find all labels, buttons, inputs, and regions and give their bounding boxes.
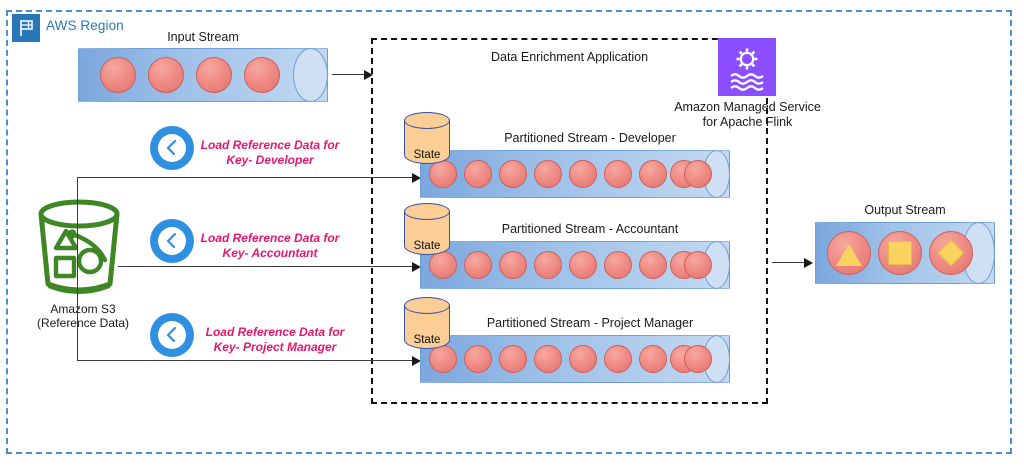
load-reference-label-developer: Load Reference Data for Key- Developer — [190, 138, 350, 168]
input-to-app-arrowhead — [364, 70, 373, 80]
stream-token — [429, 345, 457, 373]
stream-token — [569, 160, 597, 188]
amazon-s3-bucket-icon — [28, 198, 130, 307]
amazon-s3-caption: Amazom S3 (Reference Data) — [8, 302, 158, 330]
flink-caption-line2: for Apache Flink — [650, 115, 845, 130]
chevron-left-glyph — [150, 219, 194, 263]
s3-to-accountant-connector — [118, 266, 416, 267]
load-reference-label-accountant: Load Reference Data for Key- Accountant — [190, 231, 350, 261]
amazon-s3-caption-line1: Amazom S3 — [8, 302, 158, 316]
app-to-output-arrowhead — [804, 258, 813, 268]
load-reference-badge-project-manager[interactable] — [150, 313, 194, 357]
stream-token — [684, 345, 712, 373]
input-stream-label: Input Stream — [78, 30, 328, 44]
input-stream-cap — [293, 48, 328, 102]
triangle-shape-icon — [836, 244, 862, 266]
stream-token — [429, 251, 457, 279]
s3-connector-spine — [77, 177, 78, 361]
state-label: State — [404, 240, 450, 252]
stream-token — [684, 160, 712, 188]
app-to-output-connector — [772, 262, 808, 263]
flink-caption: Amazon Managed Service for Apache Flink — [650, 100, 845, 130]
state-label: State — [404, 149, 450, 161]
stream-token — [604, 251, 632, 279]
stream-token — [429, 160, 457, 188]
partitioned-stream-accountant-label: Partitioned Stream - Accountant — [430, 222, 750, 236]
stream-token — [639, 345, 667, 373]
input-stream-token — [244, 57, 280, 93]
load-reference-badge-developer[interactable] — [150, 126, 194, 170]
input-to-app-connector — [332, 74, 366, 75]
diamond-shape-icon — [938, 240, 965, 267]
state-store-accountant: State — [404, 203, 450, 255]
output-token-square — [878, 231, 922, 275]
stream-token — [499, 345, 527, 373]
aws-region-flag-icon — [12, 14, 40, 42]
stream-token — [534, 160, 562, 188]
load-reference-label-project-manager: Load Reference Data for Key- Project Man… — [190, 325, 360, 355]
chevron-left-glyph — [150, 126, 194, 170]
state-label: State — [404, 334, 450, 346]
flink-caption-line1: Amazon Managed Service — [650, 100, 845, 115]
stream-token — [499, 160, 527, 188]
partitioned-stream-developer-label: Partitioned Stream - Developer — [430, 131, 750, 145]
load-reference-badge-accountant[interactable] — [150, 219, 194, 263]
data-enrichment-application-title: Data Enrichment Application — [371, 50, 768, 64]
s3-to-project-manager-connector — [77, 360, 416, 361]
partitioned-stream-project-manager-label: Partitioned Stream - Project Manager — [430, 316, 750, 330]
output-token-diamond — [929, 231, 973, 275]
input-stream-token — [100, 57, 136, 93]
output-token-triangle — [827, 231, 871, 275]
state-store-developer: State — [404, 112, 450, 164]
stream-token — [534, 251, 562, 279]
stream-token — [499, 251, 527, 279]
stream-token — [639, 251, 667, 279]
stream-token — [569, 251, 597, 279]
stream-token — [464, 345, 492, 373]
amazon-s3-caption-line2: (Reference Data) — [8, 316, 158, 330]
apache-flink-gear-waves-icon — [718, 38, 776, 96]
stream-token — [464, 160, 492, 188]
stream-token — [604, 160, 632, 188]
stream-token — [639, 160, 667, 188]
stream-token — [684, 251, 712, 279]
state-store-project-manager: State — [404, 297, 450, 349]
s3-to-developer-connector — [77, 177, 416, 178]
stream-token — [464, 251, 492, 279]
square-shape-icon — [888, 241, 912, 265]
input-stream-token — [196, 57, 232, 93]
stream-token — [604, 345, 632, 373]
input-stream-token — [148, 57, 184, 93]
stream-token — [569, 345, 597, 373]
stream-token — [534, 345, 562, 373]
chevron-left-glyph — [150, 313, 194, 357]
diagram-canvas: AWS Region Data Enrichment Application — [0, 0, 1024, 466]
output-stream-label: Output Stream — [815, 203, 995, 217]
